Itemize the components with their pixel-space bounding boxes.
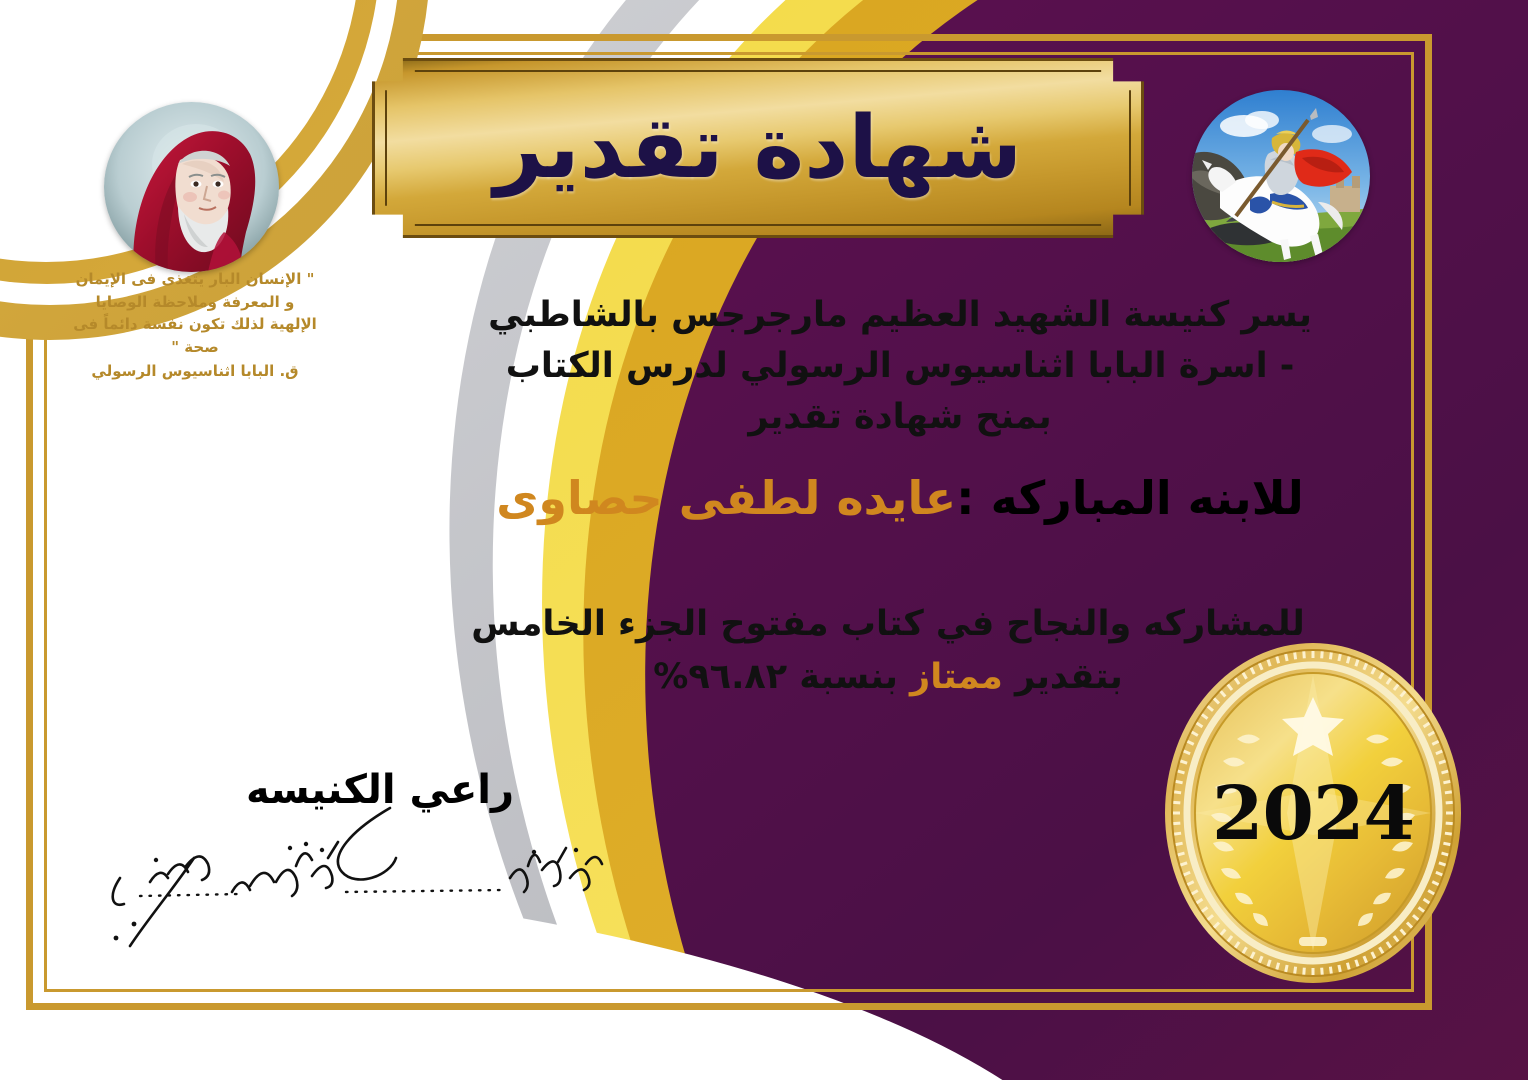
quote-author: ق. البابا اثناسيوس الرسولي	[70, 360, 320, 383]
saint-athanasius-portrait-icon	[104, 102, 279, 272]
quote-text: " الإنسان البار يتغذى فى الإيمان و المعر…	[70, 268, 320, 358]
signature-area: راعي الكنيسه	[90, 770, 610, 954]
body-line-2: - اسرة البابا اثناسيوس الرسولي لدرس الكت…	[440, 341, 1360, 392]
award-medal-seal: 2024	[1163, 641, 1463, 986]
page-title: شهادة تقدير	[372, 58, 1144, 238]
body-line-1: يسر كنيسة الشهيد العظيم مارجرجس بالشاطبي	[440, 290, 1360, 341]
grade-percentage: بنسبة ٩٦.٨٢%	[653, 657, 898, 697]
body-line-3: بمنح شهادة تقدير	[440, 392, 1360, 443]
recipient-name: عايده لطفى حصاوى	[496, 471, 956, 525]
saint-george-dragon-icon	[1192, 90, 1370, 262]
certificate-page: شهادة تقدير	[0, 0, 1528, 1080]
medal-year-label: 2024	[1163, 641, 1463, 986]
grade-value: ممتاز	[910, 657, 1003, 697]
grade-prefix: بتقدير	[1015, 657, 1123, 697]
recipient-label: للابنه المباركه :	[956, 471, 1304, 525]
quote-block: " الإنسان البار يتغذى فى الإيمان و المعر…	[70, 268, 320, 383]
certificate-body-text: يسر كنيسة الشهيد العظيم مارجرجس بالشاطبي…	[440, 290, 1360, 443]
title-plaque: شهادة تقدير	[372, 58, 1144, 238]
recipient-line: للابنه المباركه :عايده لطفى حصاوى	[440, 470, 1360, 528]
handwritten-signature-icon	[90, 804, 610, 954]
